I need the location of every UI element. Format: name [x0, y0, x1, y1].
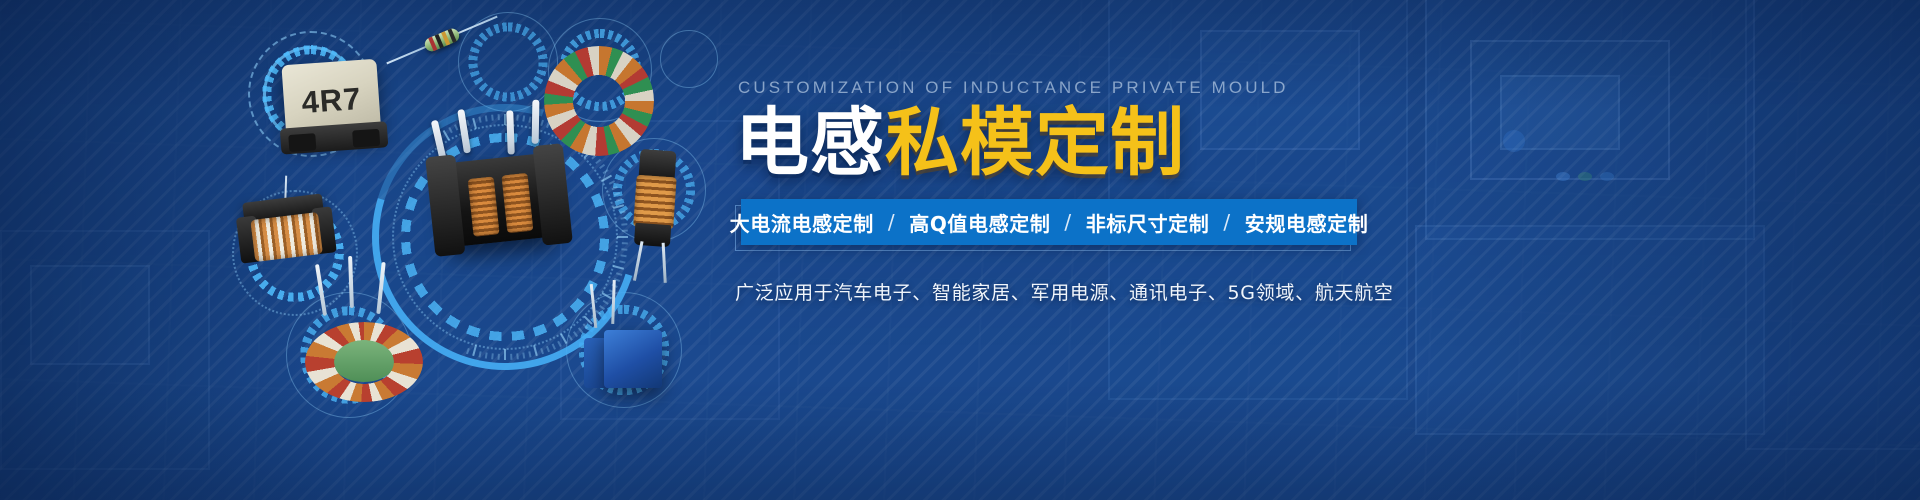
- product-green-toroid-inductor: [305, 308, 423, 404]
- banner-copy: CUSTOMIZATION OF INDUCTANCE PRIVATE MOUL…: [735, 78, 1695, 305]
- feature-separator: /: [1220, 210, 1233, 234]
- drum-lead-icon: [633, 241, 644, 281]
- toroid-winding: [305, 322, 423, 402]
- choke-pin-icon: [506, 110, 515, 154]
- banner-headline: 电感私模定制: [735, 106, 1695, 181]
- tech-ring-small-icon: [660, 30, 718, 88]
- product-flat-common-mode-choke: [238, 196, 334, 268]
- blue-case-front: [604, 330, 662, 388]
- banner-eyebrow-english: CUSTOMIZATION OF INDUCTANCE PRIVATE MOUL…: [738, 78, 1695, 98]
- product-drum-core-radial-inductor: [622, 150, 686, 280]
- choke-copper-winding: [250, 212, 323, 262]
- product-blue-cased-inductor: [578, 320, 664, 412]
- product-axial-color-band-inductor: [382, 38, 502, 42]
- feature-separator: /: [885, 210, 898, 234]
- feature-bar[interactable]: 大电流电感定制 / 高Q值电感定制 / 非标尺寸定制 / 安规电感定制: [741, 199, 1357, 245]
- choke-pin-icon: [532, 100, 540, 144]
- drum-lead-icon: [662, 243, 667, 283]
- headline-white-part: 电感: [735, 100, 885, 186]
- feature-separator: /: [1061, 210, 1074, 234]
- feature-item-non-standard-size[interactable]: 非标尺寸定制: [1086, 208, 1210, 237]
- feature-item-safety-approved[interactable]: 安规电感定制: [1245, 208, 1369, 237]
- headline-gold-part: 私模定制: [885, 100, 1185, 186]
- feature-bar-wrapper: 大电流电感定制 / 高Q值电感定制 / 非标尺寸定制 / 安规电感定制: [735, 199, 1357, 249]
- feature-bar-items: 大电流电感定制 / 高Q值电感定制 / 非标尺寸定制 / 安规电感定制: [730, 208, 1369, 237]
- product-smd-power-inductor: 4R7: [284, 62, 379, 140]
- drum-copper-winding: [633, 175, 677, 230]
- feature-item-high-q[interactable]: 高Q值电感定制: [909, 208, 1050, 237]
- feature-item-high-current[interactable]: 大电流电感定制: [730, 208, 874, 237]
- smd-part-marking: 4R7: [281, 59, 381, 143]
- product-large-common-mode-choke: [424, 140, 574, 260]
- banner-subline-applications: 广泛应用于汽车电子、智能家居、军用电源、通讯电子、5G领域、航天航空: [735, 278, 1695, 305]
- hero-banner: 4R7: [0, 0, 1920, 500]
